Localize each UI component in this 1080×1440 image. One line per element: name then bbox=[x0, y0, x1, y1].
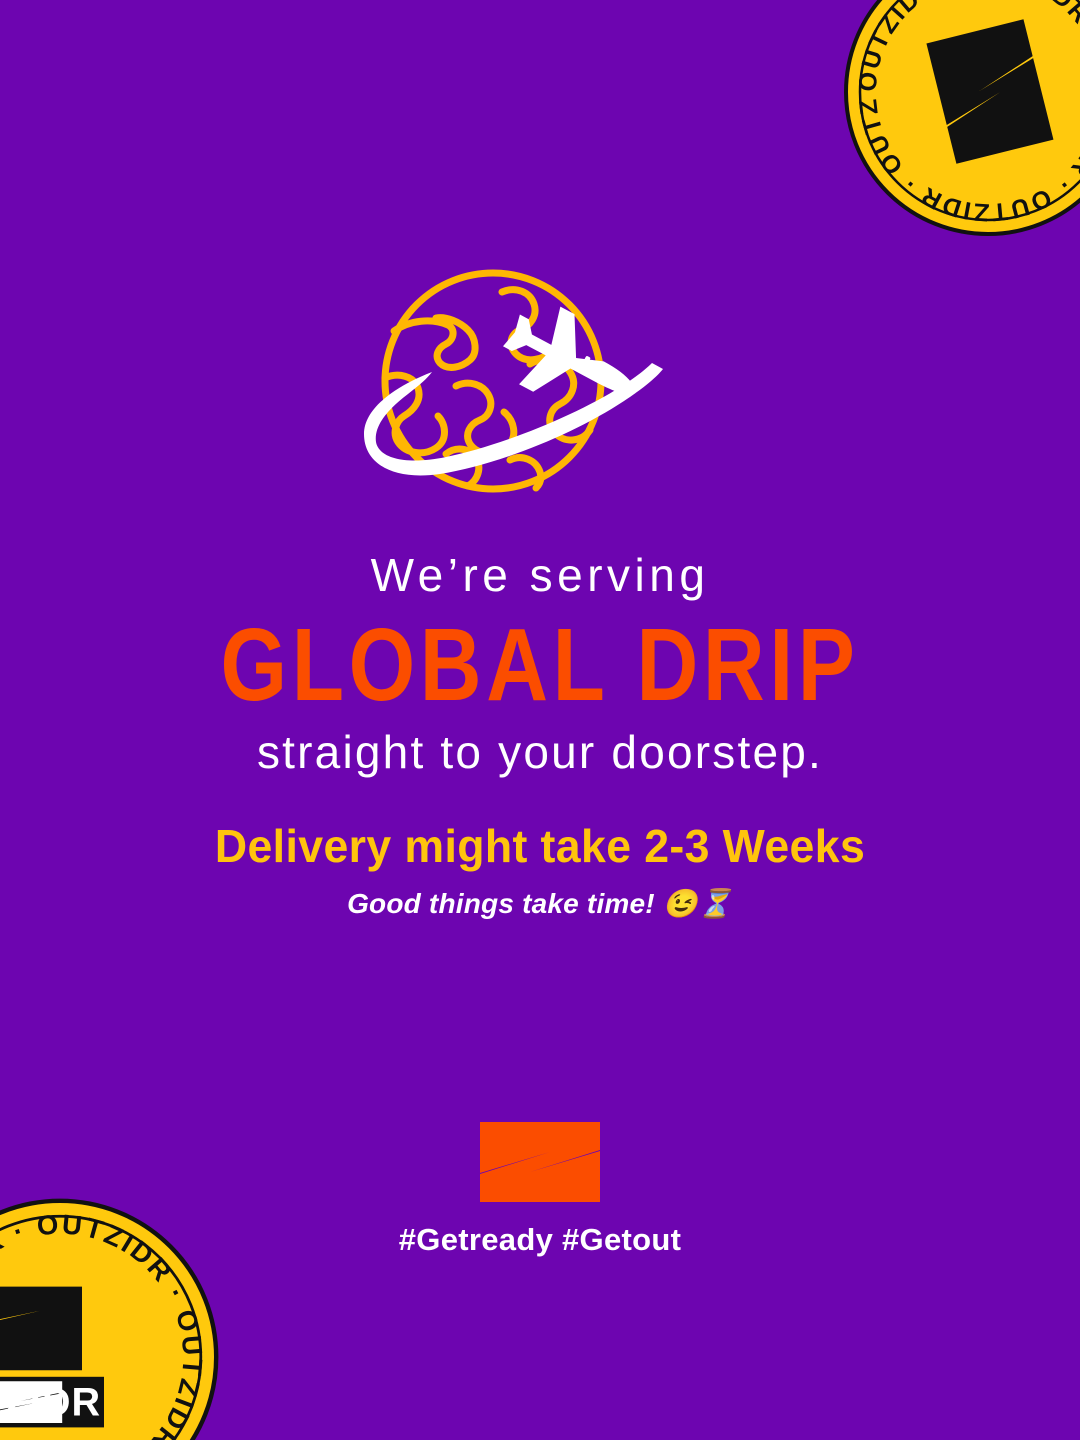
headline-block: We’re serving GLOBAL DRIP straight to yo… bbox=[0, 548, 1080, 780]
globe-airplane-icon bbox=[360, 268, 720, 508]
headline-feature: GLOBAL DRIP bbox=[38, 608, 1042, 723]
airplane-icon bbox=[491, 292, 653, 434]
delivery-subline: Good things take time! 😉⏳ bbox=[0, 887, 1080, 920]
outzidr-seal-top-right: OUTZIDR · OUTZIDR · OUTZIDR · OUTZIDR · … bbox=[838, 0, 1080, 242]
headline-closing: straight to your doorstep. bbox=[0, 725, 1080, 780]
footer-hashtags: #Getready #Getout bbox=[0, 1222, 1080, 1258]
delivery-block: Delivery might take 2-3 Weeks Good thing… bbox=[0, 820, 1080, 920]
footer-block: #Getready #Getout bbox=[0, 1120, 1080, 1258]
outzidr-z-logo bbox=[478, 1120, 602, 1204]
delivery-headline: Delivery might take 2-3 Weeks bbox=[16, 820, 1064, 873]
promo-poster: OUTZIDR · OUTZIDR · OUTZIDR · OUTZIDR · … bbox=[0, 0, 1080, 1440]
headline-eyebrow: We’re serving bbox=[0, 548, 1080, 602]
